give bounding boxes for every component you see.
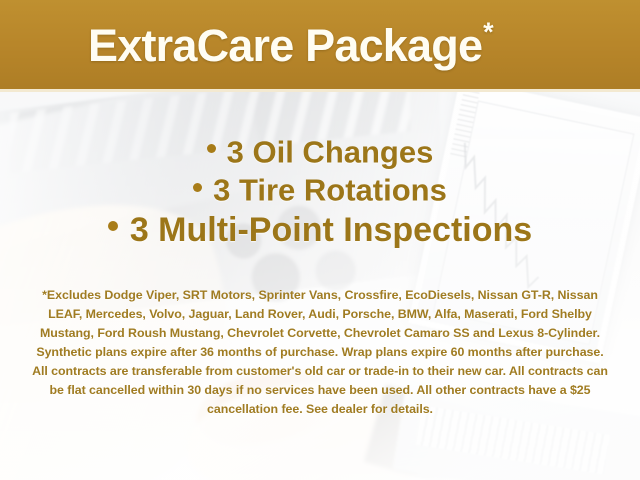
header-banner: ExtraCare Package* bbox=[0, 0, 640, 92]
page-title-asterisk: * bbox=[483, 17, 493, 47]
benefit-label: 3 Tire Rotations bbox=[213, 173, 447, 208]
extracare-promo-card: ExtraCare Package* 3 Oil Changes 3 Tire … bbox=[0, 0, 640, 480]
list-item: 3 Tire Rotations bbox=[0, 172, 640, 205]
benefit-label: 3 Oil Changes bbox=[227, 134, 434, 169]
list-item: 3 Multi-Point Inspections bbox=[0, 211, 640, 247]
page-title-text: ExtraCare Package bbox=[88, 20, 482, 71]
list-item: 3 Oil Changes bbox=[0, 134, 640, 167]
bullet-dot-icon bbox=[108, 221, 118, 231]
disclaimer-text: *Excludes Dodge Viper, SRT Motors, Sprin… bbox=[28, 286, 612, 419]
bullet-dot-icon bbox=[207, 144, 216, 153]
benefits-list: 3 Oil Changes 3 Tire Rotations 3 Multi-P… bbox=[0, 134, 640, 247]
bullet-dot-icon bbox=[193, 183, 202, 192]
benefit-label: 3 Multi-Point Inspections bbox=[130, 211, 532, 249]
page-title: ExtraCare Package* bbox=[88, 17, 493, 72]
